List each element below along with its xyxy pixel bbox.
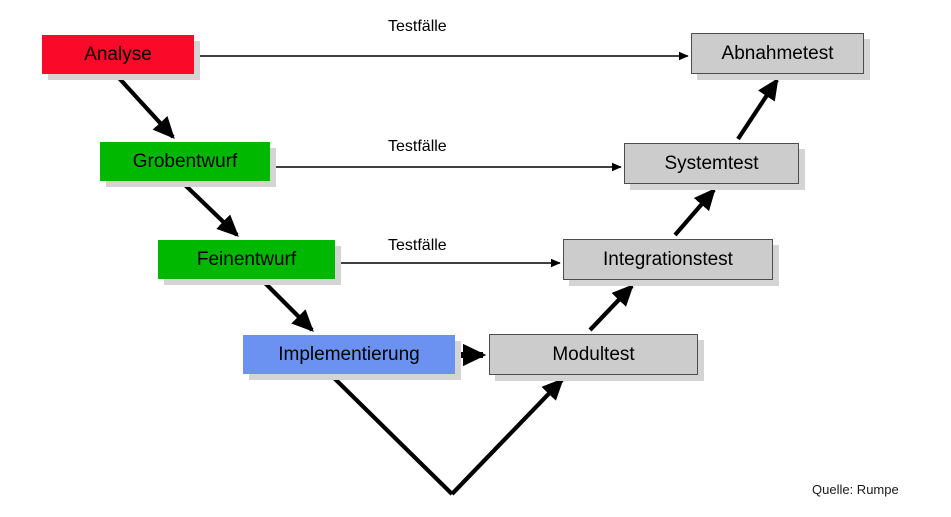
node-modultest-label: Modultest bbox=[548, 345, 638, 364]
edge-feinentwurf-to-implementierung bbox=[264, 282, 312, 330]
node-integrationstest-label: Integrationstest bbox=[599, 250, 737, 269]
edge-integrationstest-to-systemtest bbox=[675, 190, 714, 235]
edge-label-testfaelle-2: Testfälle bbox=[388, 139, 447, 155]
edge-label-testfaelle-1: Testfälle bbox=[388, 19, 447, 35]
node-implementierung[interactable]: Implementierung bbox=[243, 335, 455, 374]
node-grobentwurf-label: Grobentwurf bbox=[129, 152, 242, 171]
node-systemtest-label: Systemtest bbox=[661, 154, 763, 173]
edge-implementierung-to-vertex bbox=[330, 374, 452, 494]
v-model-diagram: Analyse Grobentwurf Feinentwurf Implemen… bbox=[0, 0, 951, 517]
node-analyse-label: Analyse bbox=[80, 45, 156, 64]
edge-grobentwurf-to-feinentwurf bbox=[184, 184, 237, 235]
edge-label-testfaelle-3: Testfälle bbox=[388, 238, 447, 254]
node-grobentwurf[interactable]: Grobentwurf bbox=[100, 142, 270, 181]
node-integrationstest[interactable]: Integrationstest bbox=[563, 239, 773, 280]
node-systemtest[interactable]: Systemtest bbox=[624, 143, 799, 184]
edge-systemtest-to-abnahmetest bbox=[738, 80, 777, 139]
node-abnahmetest-label: Abnahmetest bbox=[718, 44, 838, 63]
node-abnahmetest[interactable]: Abnahmetest bbox=[691, 33, 864, 74]
node-feinentwurf[interactable]: Feinentwurf bbox=[158, 240, 335, 279]
edge-analyse-to-grobentwurf bbox=[118, 77, 173, 137]
edge-vertex-to-modultest bbox=[452, 380, 562, 494]
edge-modultest-to-integrationstest bbox=[590, 286, 632, 330]
node-implementierung-label: Implementierung bbox=[274, 345, 424, 364]
source-note: Quelle: Rumpe bbox=[812, 483, 899, 496]
node-modultest[interactable]: Modultest bbox=[489, 334, 698, 375]
node-analyse[interactable]: Analyse bbox=[42, 35, 194, 74]
node-feinentwurf-label: Feinentwurf bbox=[193, 250, 300, 269]
